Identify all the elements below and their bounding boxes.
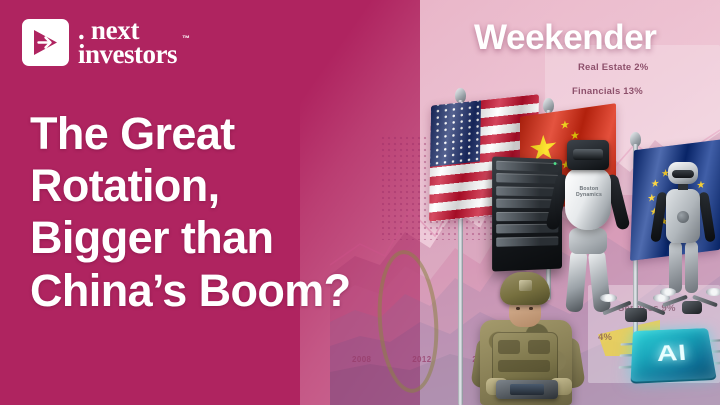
ai-chip-graphic: AI	[631, 328, 717, 382]
ai-chip-label: AI	[631, 328, 717, 382]
legend-label-financials: Financials 13%	[572, 86, 643, 97]
headline-title: The Great Rotation, Bigger than China’s …	[30, 108, 460, 317]
legend-label-other: 4%	[598, 332, 612, 343]
weekender-label: Weekender	[474, 18, 657, 58]
humanoid-robot-secondary	[652, 162, 714, 297]
headline-line-4: China’s Boom?	[30, 265, 460, 317]
headline-line-1: The Great	[30, 108, 460, 160]
play-triangle-icon	[22, 19, 69, 66]
logo-wordmark: . next investors ™	[78, 18, 177, 67]
drone-right-icon	[660, 286, 720, 318]
logo-line-two: investors	[78, 42, 177, 66]
next-investors-logo[interactable]: . next investors ™	[22, 18, 177, 67]
legend-label-real-estate: Real Estate 2%	[578, 62, 648, 73]
headline-line-2: Rotation,	[30, 160, 460, 212]
soldier-with-drone-controller	[470, 272, 586, 405]
weekender-thumbnail: 2008 2012 2016 2018 Real Estate 2% Finan…	[0, 0, 720, 405]
headline-line-3: Bigger than	[30, 212, 460, 264]
axis-tick: 2012	[412, 355, 431, 364]
axis-tick: 2008	[352, 355, 371, 364]
trademark-symbol: ™	[182, 35, 190, 42]
robot-brand-label: Boston Dynamics	[570, 186, 608, 198]
